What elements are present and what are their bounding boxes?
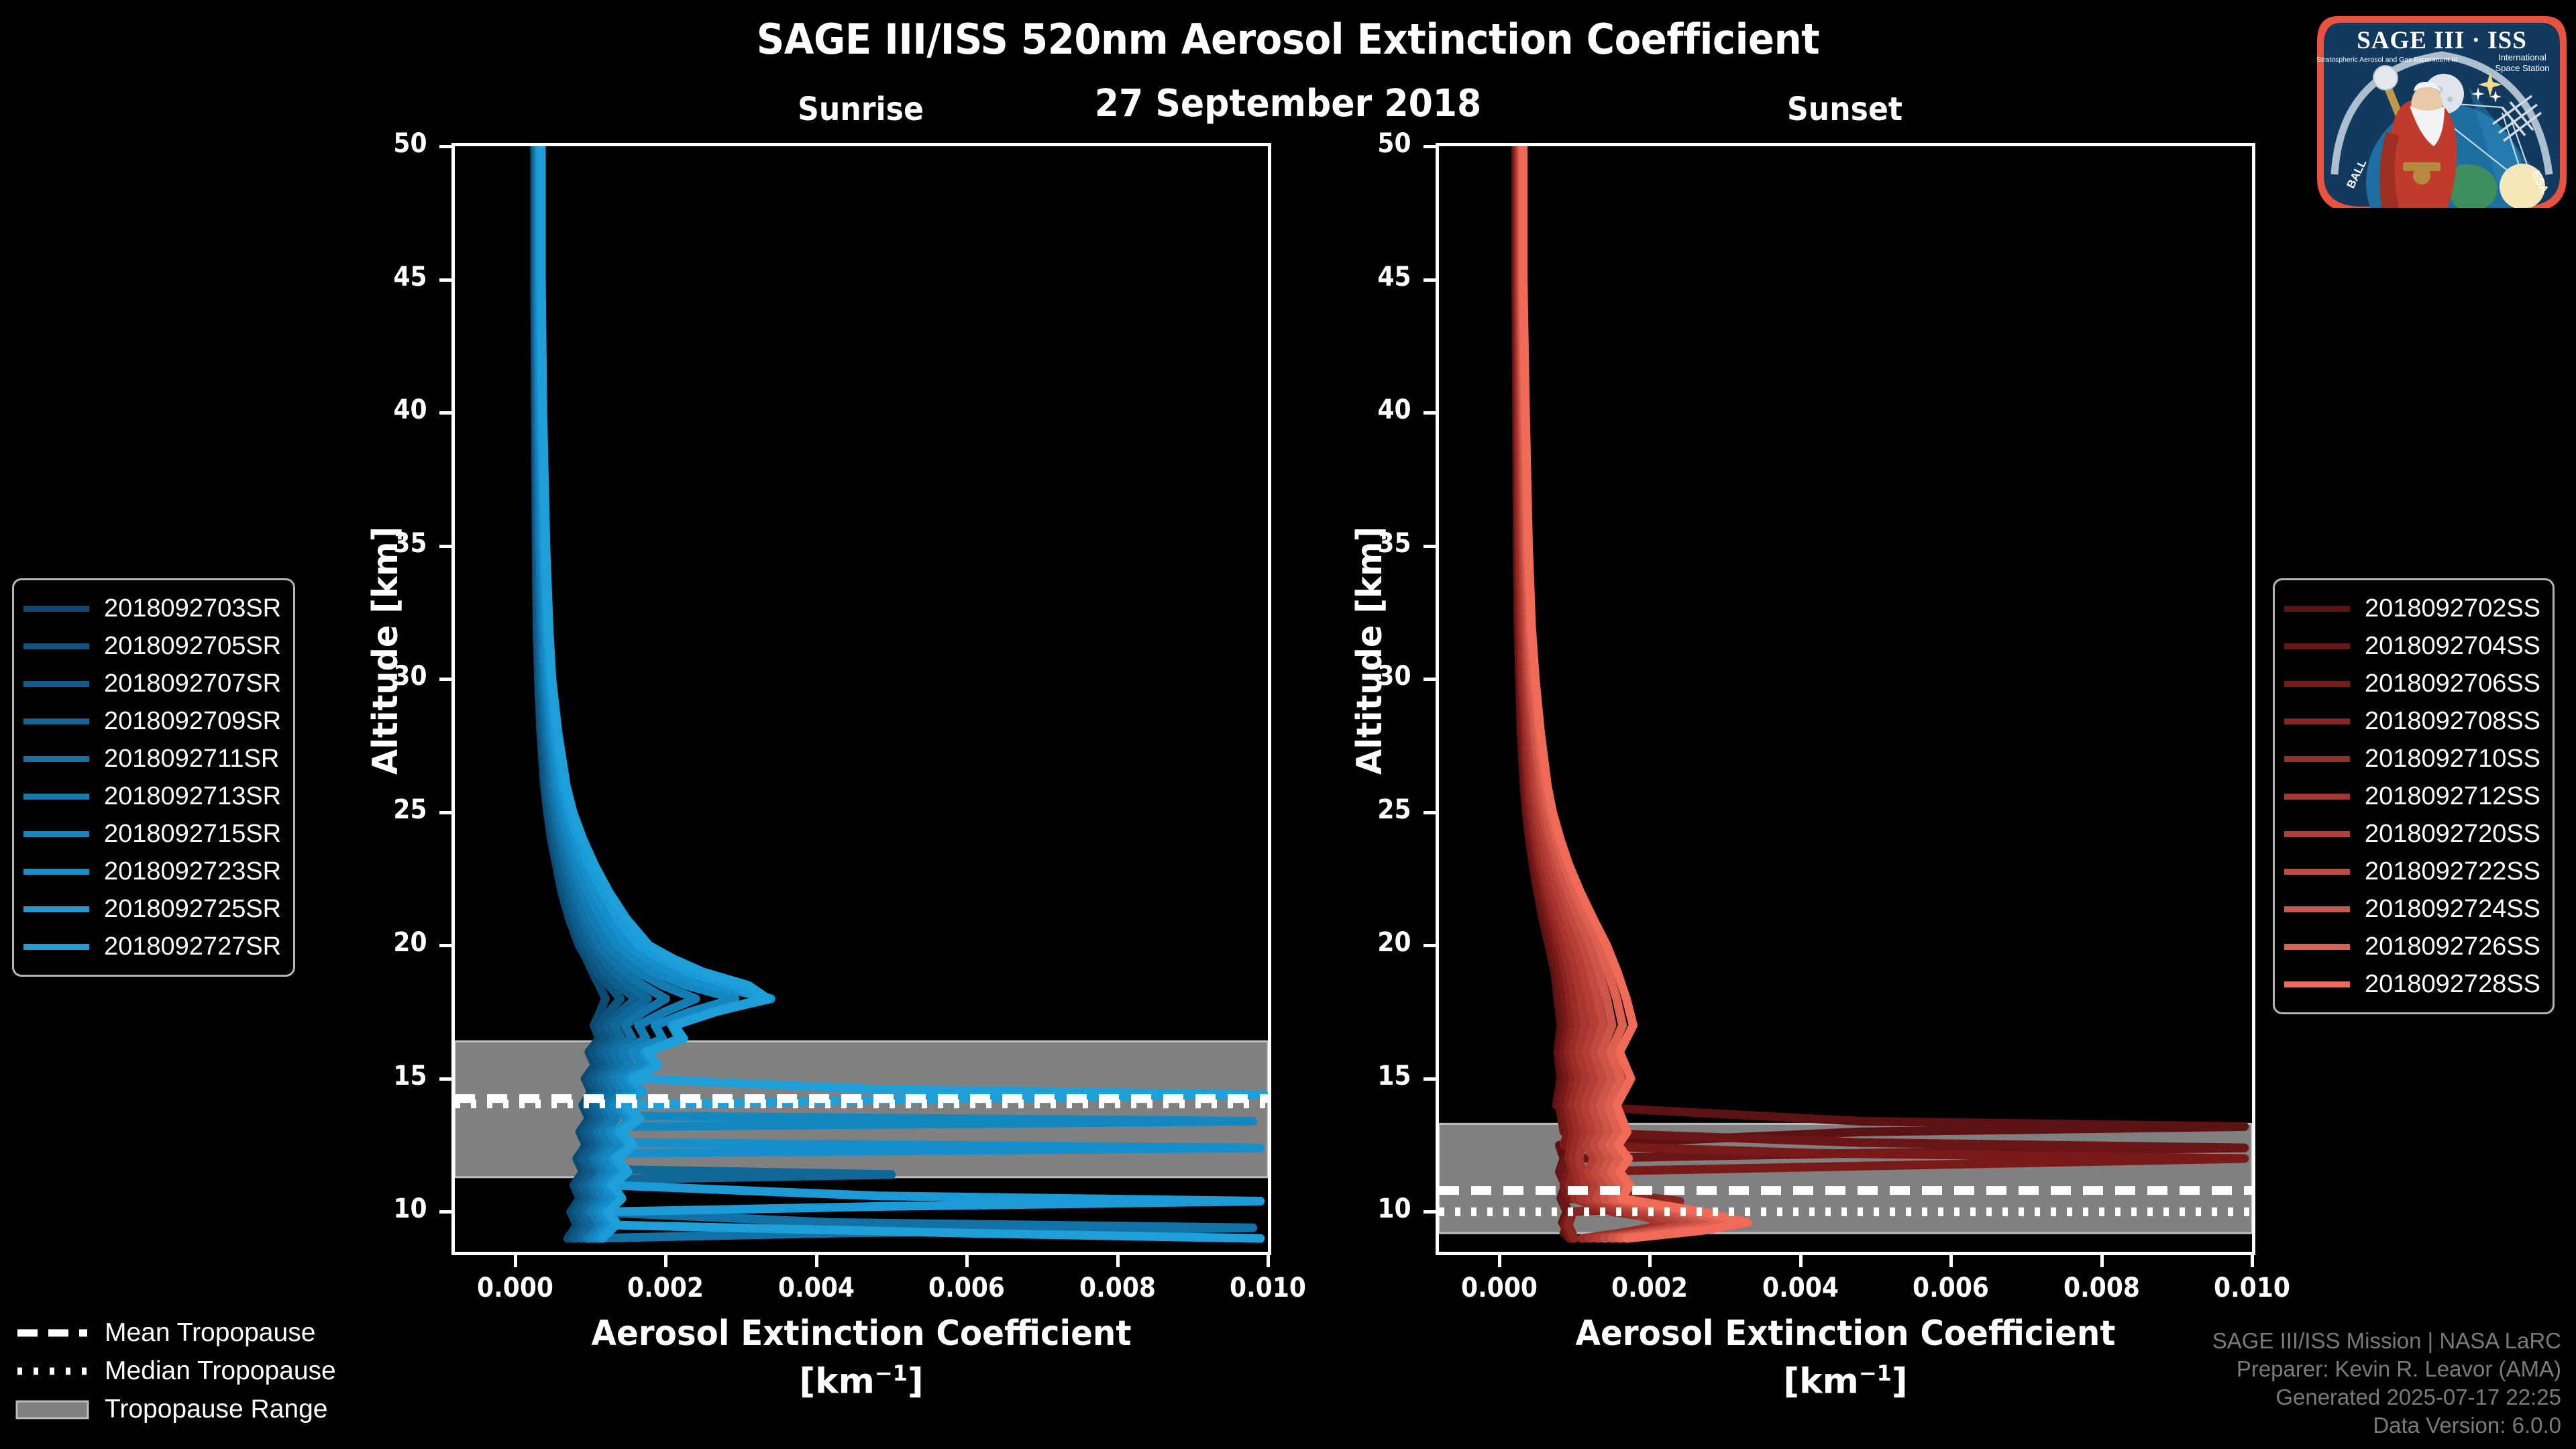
logo-subtitle-right-2: Space Station [2495, 63, 2550, 73]
tropopause-legend-item: Mean Tropopause [15, 1313, 336, 1352]
legend-color-swatch [2284, 831, 2350, 837]
figure-root: SAGE III/ISS 520nm Aerosol Extinction Co… [0, 0, 2576, 1449]
legend-sunrise[interactable]: 2018092703SR2018092705SR2018092707SR2018… [12, 578, 295, 977]
y-tick-label: 40 [349, 394, 427, 425]
y-tick-label: 10 [349, 1193, 427, 1224]
legend-color-swatch [2284, 681, 2350, 687]
legend-sunrise-item[interactable]: 2018092723SR [23, 853, 281, 890]
credit-line: SAGE III/ISS Mission | NASA LaRC [2212, 1327, 2561, 1355]
x-tick-mark [1799, 1255, 1803, 1267]
legend-item-label: 2018092722SS [2365, 857, 2540, 886]
legend-item-label: 2018092727SR [104, 932, 281, 961]
legend-sunrise-item[interactable]: 2018092705SR [23, 627, 281, 665]
y-tick-mark [439, 811, 451, 814]
legend-item-label: 2018092723SR [104, 857, 281, 886]
figure-date: 27 September 2018 [90, 82, 2485, 125]
y-tick-mark [1424, 811, 1436, 814]
y-tick-mark [1424, 1210, 1436, 1214]
legend-item-label: 2018092707SR [104, 669, 281, 698]
x-tick-mark [2100, 1255, 2104, 1267]
legend-item-label: 2018092702SS [2365, 594, 2540, 623]
y-tick-mark [1424, 145, 1436, 148]
legend-sunset-item[interactable]: 2018092702SS [2284, 590, 2540, 627]
y-tick-label: 25 [349, 794, 427, 825]
logo-subtitle-left: Stratospheric Aerosol and Gas Experiment… [2316, 56, 2457, 64]
legend-item-label: 2018092705SR [104, 632, 281, 661]
logo-moon-crater-2 [2447, 97, 2453, 102]
y-tick-mark [1424, 411, 1436, 415]
legend-item-label: 2018092711SR [104, 745, 279, 773]
logo-title: SAGE III · ISS [2357, 27, 2527, 54]
y-tick-label: 50 [349, 128, 427, 159]
legend-sunset[interactable]: 2018092702SS2018092704SS2018092706SS2018… [2273, 578, 2555, 1014]
logo-subtitle-right-1: International [2498, 52, 2546, 62]
y-tick-label: 15 [349, 1061, 427, 1091]
legend-sunrise-item[interactable]: 2018092707SR [23, 665, 281, 702]
x-tick-label: 0.010 [1199, 1273, 1338, 1303]
tropopause-legend-item: Median Tropopause [15, 1352, 336, 1390]
shaded-range-icon [15, 1399, 90, 1419]
legend-color-swatch [23, 869, 89, 875]
x-tick-label: 0.002 [596, 1273, 735, 1303]
dotted-line-icon [15, 1361, 90, 1381]
y-tick-label: 40 [1333, 394, 1411, 425]
legend-color-swatch [23, 831, 89, 837]
x-axis-title-right: Aerosol Extinction Coefficient [1464, 1313, 2226, 1354]
legend-item-label: 2018092704SS [2365, 632, 2540, 661]
y-tick-label: 45 [349, 262, 427, 292]
x-axis-units-left: [km−1] [451, 1360, 1271, 1401]
y-tick-mark [439, 545, 451, 548]
y-tick-mark [1424, 278, 1436, 282]
y-tick-mark [439, 411, 451, 415]
legend-sunrise-item[interactable]: 2018092711SR [23, 740, 281, 777]
legend-item-label: 2018092710SS [2365, 745, 2540, 773]
legend-sunset-item[interactable]: 2018092724SS [2284, 890, 2540, 928]
credit-line: Generated 2025-07-17 22:25 [2212, 1383, 2561, 1411]
y-tick-label: 50 [1333, 128, 1411, 159]
x-tick-mark [815, 1255, 818, 1267]
x-axis-units-right: [km−1] [1436, 1360, 2255, 1401]
x-tick-mark [1267, 1255, 1270, 1267]
legend-item-label: 2018092725SR [104, 895, 281, 924]
x-tick-label: 0.008 [1048, 1273, 1187, 1303]
x-tick-mark [1648, 1255, 1652, 1267]
y-tick-mark [1424, 1077, 1436, 1081]
y-tick-label: 25 [1333, 794, 1411, 825]
legend-sunrise-item[interactable]: 2018092725SR [23, 890, 281, 928]
y-tick-label: 45 [1333, 262, 1411, 292]
legend-color-swatch [23, 681, 89, 687]
dashed-line-icon [15, 1323, 90, 1343]
legend-item-label: 2018092720SS [2365, 820, 2540, 849]
credit-line: Data Version: 6.0.0 [2212, 1411, 2561, 1440]
legend-sunrise-item[interactable]: 2018092715SR [23, 815, 281, 853]
legend-sunset-item[interactable]: 2018092704SS [2284, 627, 2540, 665]
x-tick-label: 0.006 [898, 1273, 1036, 1303]
legend-item-label: 2018092712SS [2365, 782, 2540, 811]
plot-panel-sunset [1436, 143, 2255, 1255]
sunset-plot-svg [1439, 146, 2252, 1252]
legend-color-swatch [2284, 643, 2350, 649]
y-tick-mark [1424, 545, 1436, 548]
tropopause-legend-label: Tropopause Range [105, 1395, 327, 1424]
legend-color-swatch [2284, 981, 2350, 987]
legend-sunset-item[interactable]: 2018092726SS [2284, 928, 2540, 965]
legend-color-swatch [2284, 906, 2350, 912]
y-tick-label: 20 [1333, 927, 1411, 958]
legend-item-label: 2018092706SS [2365, 669, 2540, 698]
legend-sunrise-item[interactable]: 2018092703SR [23, 590, 281, 627]
legend-color-swatch [23, 643, 89, 649]
legend-color-swatch [2284, 869, 2350, 875]
panel-title-sunrise: Sunrise [669, 91, 1052, 128]
figure-title: SAGE III/ISS 520nm Aerosol Extinction Co… [90, 15, 2485, 64]
y-tick-mark [1424, 944, 1436, 947]
sage-iii-iss-logo: SAGE III · ISS Stratospheric Aerosol and… [2301, 7, 2576, 208]
legend-color-swatch [23, 606, 89, 612]
x-tick-mark [965, 1255, 969, 1267]
y-tick-mark [439, 944, 451, 947]
x-tick-mark [2251, 1255, 2254, 1267]
x-tick-label: 0.010 [2183, 1273, 2322, 1303]
legend-sunset-item[interactable]: 2018092722SS [2284, 853, 2540, 890]
legend-sunset-item[interactable]: 2018092720SS [2284, 815, 2540, 853]
legend-item-label: 2018092715SR [104, 820, 281, 849]
legend-color-swatch [2284, 794, 2350, 800]
credit-line: Preparer: Kevin R. Leavor (AMA) [2212, 1355, 2561, 1383]
y-tick-label: 20 [349, 927, 427, 958]
legend-sunset-item[interactable]: 2018092710SS [2284, 740, 2540, 777]
legend-sunset-item[interactable]: 2018092728SS [2284, 965, 2540, 1003]
legend-color-swatch [23, 718, 89, 724]
x-tick-label: 0.000 [1430, 1273, 1568, 1303]
y-tick-mark [439, 278, 451, 282]
legend-color-swatch [23, 756, 89, 762]
x-tick-label: 0.004 [747, 1273, 885, 1303]
legend-sunset-item[interactable]: 2018092706SS [2284, 665, 2540, 702]
panel-title-sunset: Sunset [1654, 91, 2036, 128]
legend-sunset-item[interactable]: 2018092712SS [2284, 777, 2540, 815]
logo-svg: SAGE III · ISS Stratospheric Aerosol and… [2301, 7, 2576, 208]
tropopause-legend-label: Mean Tropopause [105, 1318, 315, 1348]
x-tick-mark [514, 1255, 517, 1267]
legend-item-label: 2018092728SS [2365, 970, 2540, 999]
legend-item-label: 2018092724SS [2365, 895, 2540, 924]
legend-color-swatch [2284, 756, 2350, 762]
y-axis-title-left: Altitude [km] [366, 527, 406, 775]
legend-color-swatch [23, 794, 89, 800]
x-tick-label: 0.002 [1580, 1273, 1719, 1303]
legend-color-swatch [23, 906, 89, 912]
legend-sunrise-item[interactable]: 2018092727SR [23, 928, 281, 965]
y-axis-title-right: Altitude [km] [1350, 527, 1390, 775]
y-tick-mark [439, 1077, 451, 1081]
y-tick-mark [439, 145, 451, 148]
x-tick-label: 0.000 [445, 1273, 584, 1303]
x-tick-mark [664, 1255, 667, 1267]
legend-item-label: 2018092708SS [2365, 707, 2540, 736]
y-tick-label: 15 [1333, 1061, 1411, 1091]
legend-item-label: 2018092726SS [2365, 932, 2540, 961]
x-tick-label: 0.008 [2032, 1273, 2171, 1303]
x-axis-title-left: Aerosol Extinction Coefficient [480, 1313, 1242, 1354]
x-tick-label: 0.006 [1882, 1273, 2021, 1303]
legend-sunset-item[interactable]: 2018092708SS [2284, 702, 2540, 740]
legend-color-swatch [2284, 606, 2350, 612]
legend-color-swatch [23, 944, 89, 950]
tropopause-legend-label: Median Tropopause [105, 1356, 336, 1386]
x-tick-mark [1949, 1255, 1953, 1267]
legend-sunrise-item[interactable]: 2018092713SR [23, 777, 281, 815]
legend-item-label: 2018092713SR [104, 782, 281, 811]
x-tick-mark [1498, 1255, 1501, 1267]
tropopause-legend: Mean TropopauseMedian TropopauseTropopau… [15, 1313, 336, 1428]
tropopause-legend-item: Tropopause Range [15, 1390, 336, 1428]
y-tick-mark [439, 1210, 451, 1214]
legend-item-label: 2018092703SR [104, 594, 281, 623]
y-tick-mark [439, 678, 451, 681]
legend-sunrise-item[interactable]: 2018092709SR [23, 702, 281, 740]
plot-panel-sunrise [451, 143, 1271, 1255]
credits-block: SAGE III/ISS Mission | NASA LaRCPreparer… [2212, 1327, 2561, 1440]
sunrise-plot-svg [455, 146, 1268, 1252]
y-tick-label: 10 [1333, 1193, 1411, 1224]
legend-color-swatch [2284, 944, 2350, 950]
legend-item-label: 2018092709SR [104, 707, 281, 736]
x-tick-label: 0.004 [1731, 1273, 1870, 1303]
x-tick-mark [1116, 1255, 1120, 1267]
legend-color-swatch [2284, 718, 2350, 724]
y-tick-mark [1424, 678, 1436, 681]
